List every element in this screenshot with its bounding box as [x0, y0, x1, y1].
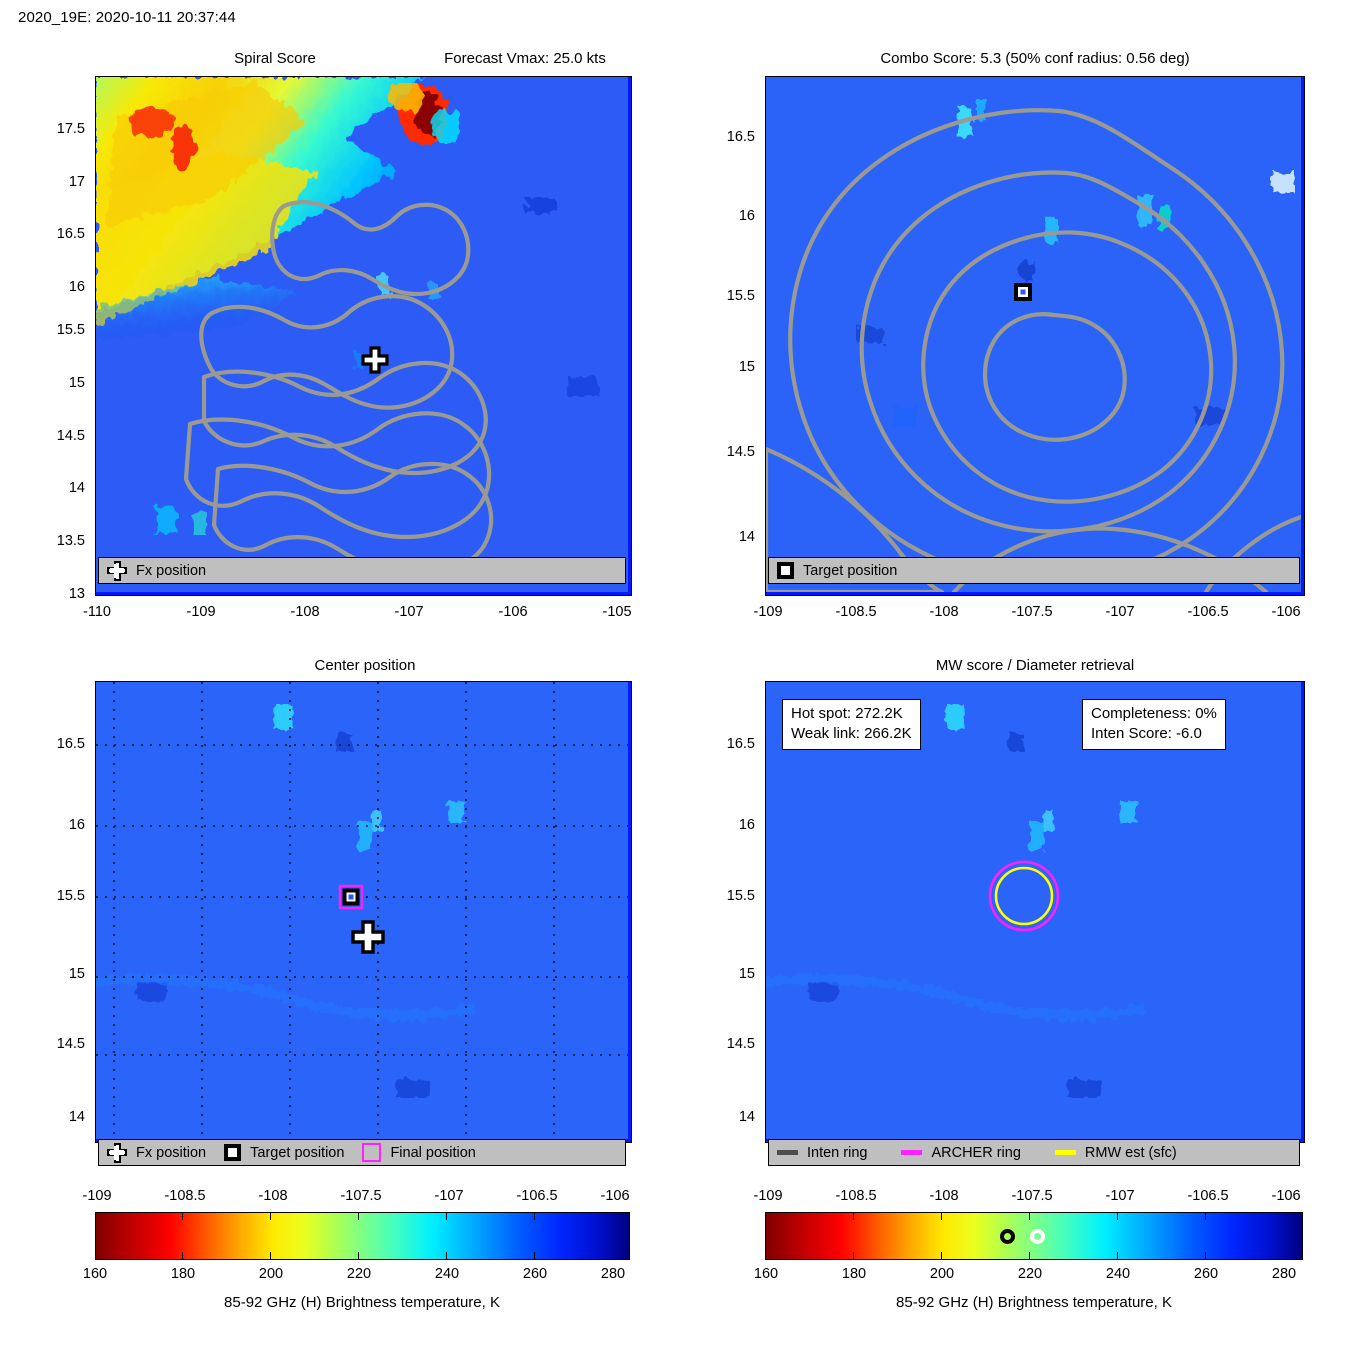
- legend-label: Final position: [390, 1145, 475, 1161]
- legend-label: Fx position: [136, 563, 206, 579]
- legend-item-final-position: Final position: [362, 1143, 475, 1162]
- yellow-dash-icon: [1055, 1150, 1076, 1155]
- combo-score-image: [766, 77, 1301, 592]
- legend-label: ARCHER ring: [931, 1145, 1020, 1161]
- inten-score-value: Inten Score: -6.0: [1091, 724, 1217, 744]
- gray-dash-icon: [777, 1150, 798, 1155]
- square-marker-icon: [224, 1144, 241, 1161]
- legend-label: Target position: [250, 1145, 344, 1161]
- hot-spot-info-box: Hot spot: 272.2K Weak link: 266.2K: [782, 699, 921, 750]
- cross-marker-icon: [107, 561, 127, 581]
- forecast-vmax-label: Forecast Vmax: 25.0 kts: [300, 50, 750, 67]
- center-position-plot[interactable]: [95, 681, 632, 1143]
- spiral-score-image: [96, 77, 628, 592]
- colorbar-right-gradient[interactable]: [765, 1212, 1303, 1260]
- spiral-legend: Fx position: [98, 557, 626, 584]
- spiral-score-plot[interactable]: [95, 76, 632, 596]
- combo-score-plot[interactable]: [765, 76, 1305, 596]
- legend-label: Inten ring: [807, 1145, 867, 1161]
- hot-spot-value: Hot spot: 272.2K: [791, 704, 912, 724]
- completeness-info-box: Completeness: 0% Inten Score: -6.0: [1082, 699, 1226, 750]
- legend-item-inten-ring: Inten ring: [777, 1145, 867, 1161]
- colorbar-left-caption: 85-92 GHz (H) Brightness temperature, K: [224, 1294, 500, 1311]
- mw-legend: Inten ring ARCHER ring RMW est (sfc): [768, 1139, 1300, 1166]
- center-legend: Fx position Target position Final positi…: [98, 1139, 626, 1166]
- mw-score-title: MW score / Diameter retrieval: [825, 657, 1245, 674]
- target-position-marker-combo: [1014, 283, 1032, 301]
- legend-item-target-position: Target position: [777, 562, 897, 579]
- completeness-value: Completeness: 0%: [1091, 704, 1217, 724]
- square-marker-icon: [777, 562, 794, 579]
- mw-score-image: [766, 682, 1301, 1139]
- legend-label: RMW est (sfc): [1085, 1145, 1177, 1161]
- magenta-dash-icon: [901, 1150, 922, 1155]
- hot-spot-marker: [1030, 1229, 1045, 1244]
- weak-link-value: Weak link: 266.2K: [791, 724, 912, 744]
- legend-item-fx-position: Fx position: [107, 561, 206, 581]
- mw-score-plot[interactable]: [765, 681, 1305, 1143]
- magenta-square-marker-icon: [362, 1143, 381, 1162]
- combo-legend: Target position: [768, 557, 1300, 584]
- colorbar-right-caption: 85-92 GHz (H) Brightness temperature, K: [896, 1294, 1172, 1311]
- legend-item-fx-position: Fx position: [107, 1143, 206, 1163]
- weak-link-marker: [1000, 1229, 1015, 1244]
- legend-item-archer-ring: ARCHER ring: [901, 1145, 1020, 1161]
- center-position-title: Center position: [185, 657, 545, 674]
- legend-label: Fx position: [136, 1145, 206, 1161]
- legend-label: Target position: [803, 563, 897, 579]
- legend-item-rmw-est: RMW est (sfc): [1055, 1145, 1177, 1161]
- center-position-image: [96, 682, 628, 1139]
- combo-score-title: Combo Score: 5.3 (50% conf radius: 0.56 …: [735, 50, 1335, 67]
- cross-marker-icon: [107, 1143, 127, 1163]
- colorbar-left-gradient[interactable]: [95, 1212, 630, 1260]
- target-final-position-marker: [340, 886, 362, 908]
- page-title: 2020_19E: 2020-10-11 20:37:44: [18, 9, 236, 26]
- legend-item-target-position: Target position: [224, 1144, 344, 1161]
